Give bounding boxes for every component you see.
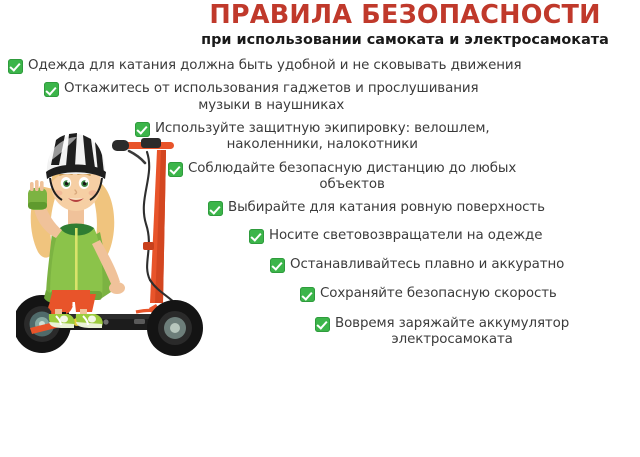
green-check-icon [208,201,223,216]
rule-item-label: Одежда для катания должна быть удобной и… [28,58,521,74]
green-check-icon [44,82,59,97]
rule-item-5: Выбирайте для катания ровную поверхность [0,200,640,216]
rule-item-label: Используйте защитную экипировку: велошле… [155,121,490,154]
green-check-icon [135,122,150,137]
rule-item-8: Сохраняйте безопасную скорость [0,286,640,302]
rule-item-9: Вовремя заряжайте аккумулятор электросам… [0,316,640,349]
green-check-icon [270,258,285,273]
green-check-icon [168,162,183,177]
green-check-icon [315,317,330,332]
rule-item-label: Соблюдайте безопасную дистанцию до любых… [188,161,516,194]
rule-item-label: Откажитесь от использования гаджетов и п… [64,81,478,114]
rule-item-label: Останавливайтесь плавно и аккуратно [290,257,564,273]
green-check-icon [300,287,315,302]
rule-item-3: Используйте защитную экипировку: велошле… [0,121,640,154]
safety-rules-poster: ПРАВИЛА БЕЗОПАСНОСТИ при использовании с… [0,0,640,457]
poster-header: ПРАВИЛА БЕЗОПАСНОСТИ при использовании с… [170,2,640,49]
rule-item-7: Останавливайтесь плавно и аккуратно [0,257,640,273]
green-check-icon [249,229,264,244]
rule-item-label: Сохраняйте безопасную скорость [320,286,557,302]
green-check-icon [8,59,23,74]
rule-item-4: Соблюдайте безопасную дистанцию до любых… [0,161,640,194]
poster-title: ПРАВИЛА БЕЗОПАСНОСТИ [170,2,640,29]
rule-item-label: Носите световозвращатели на одежде [269,228,542,244]
safety-rules-list: Одежда для катания должна быть удобной и… [0,58,640,355]
rule-item-1: Одежда для катания должна быть удобной и… [0,58,640,74]
rule-item-6: Носите световозвращатели на одежде [0,228,640,244]
poster-subtitle: при использовании самоката и электросамо… [170,33,640,49]
rule-item-label: Вовремя заряжайте аккумулятор электросам… [335,316,569,349]
rule-item-2: Откажитесь от использования гаджетов и п… [0,81,640,114]
rule-item-label: Выбирайте для катания ровную поверхность [228,200,545,216]
